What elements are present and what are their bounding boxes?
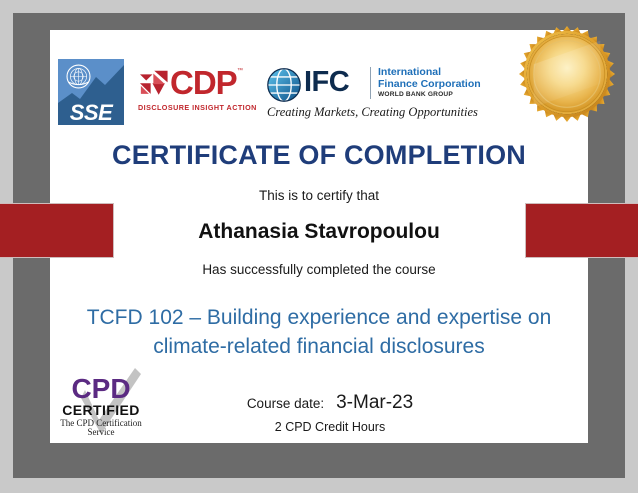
ifc-divider (370, 67, 371, 99)
certify-line: This is to certify that (50, 188, 588, 203)
recipient-name: Athanasia Stavropoulou (50, 220, 588, 244)
cdp-tagline: DISCLOSURE INSIGHT ACTION (138, 103, 257, 112)
certificate-title: CERTIFICATE OF COMPLETION (50, 140, 588, 171)
partner-logo-row: SSE CDP ™ DISCLOSURE INSIGHT ACTION (58, 58, 448, 126)
course-date-label: Course date: (247, 396, 324, 411)
gold-seal-icon (518, 25, 616, 123)
globe-icon (266, 67, 302, 103)
cdp-wordmark: CDP (170, 65, 237, 101)
svg-text:Service: Service (88, 427, 115, 436)
course-title: TCFD 102 – Building experience and exper… (70, 303, 568, 361)
course-date-value: 3-Mar-23 (336, 392, 413, 413)
ifc-wordmark: IFC (304, 66, 349, 98)
completion-line: Has successfully completed the course (50, 262, 588, 277)
sse-logo: SSE (58, 59, 124, 125)
ifc-full-name: International Finance Corporation (378, 67, 481, 90)
cdp-trademark: ™ (237, 68, 243, 74)
cdp-logo: CDP ™ DISCLOSURE INSIGHT ACTION (138, 65, 242, 119)
cpd-certified-logo: CPD CERTIFIED The CPD Certification Serv… (55, 368, 147, 436)
svg-text:CPD: CPD (71, 373, 130, 404)
certificate-document: SSE CDP ™ DISCLOSURE INSIGHT ACTION (0, 0, 638, 493)
svg-text:CERTIFIED: CERTIFIED (62, 402, 140, 418)
cpd-credit-hours: 2 CPD Credit Hours (180, 420, 480, 434)
cdp-mark-icon (138, 69, 174, 101)
ifc-name-line1: International (378, 66, 441, 78)
ifc-logo: IFC International Finance Corporation WO… (266, 61, 448, 123)
ifc-name-line2: Finance Corporation (378, 78, 481, 90)
ifc-tagline: Creating Markets, Creating Opportunities (267, 105, 478, 120)
un-emblem-icon (65, 63, 92, 90)
course-date-row: Course date:3-Mar-23 (180, 392, 480, 414)
sse-wordmark: SSE (58, 102, 124, 124)
world-bank-group-label: WORLD BANK GROUP (378, 91, 453, 98)
